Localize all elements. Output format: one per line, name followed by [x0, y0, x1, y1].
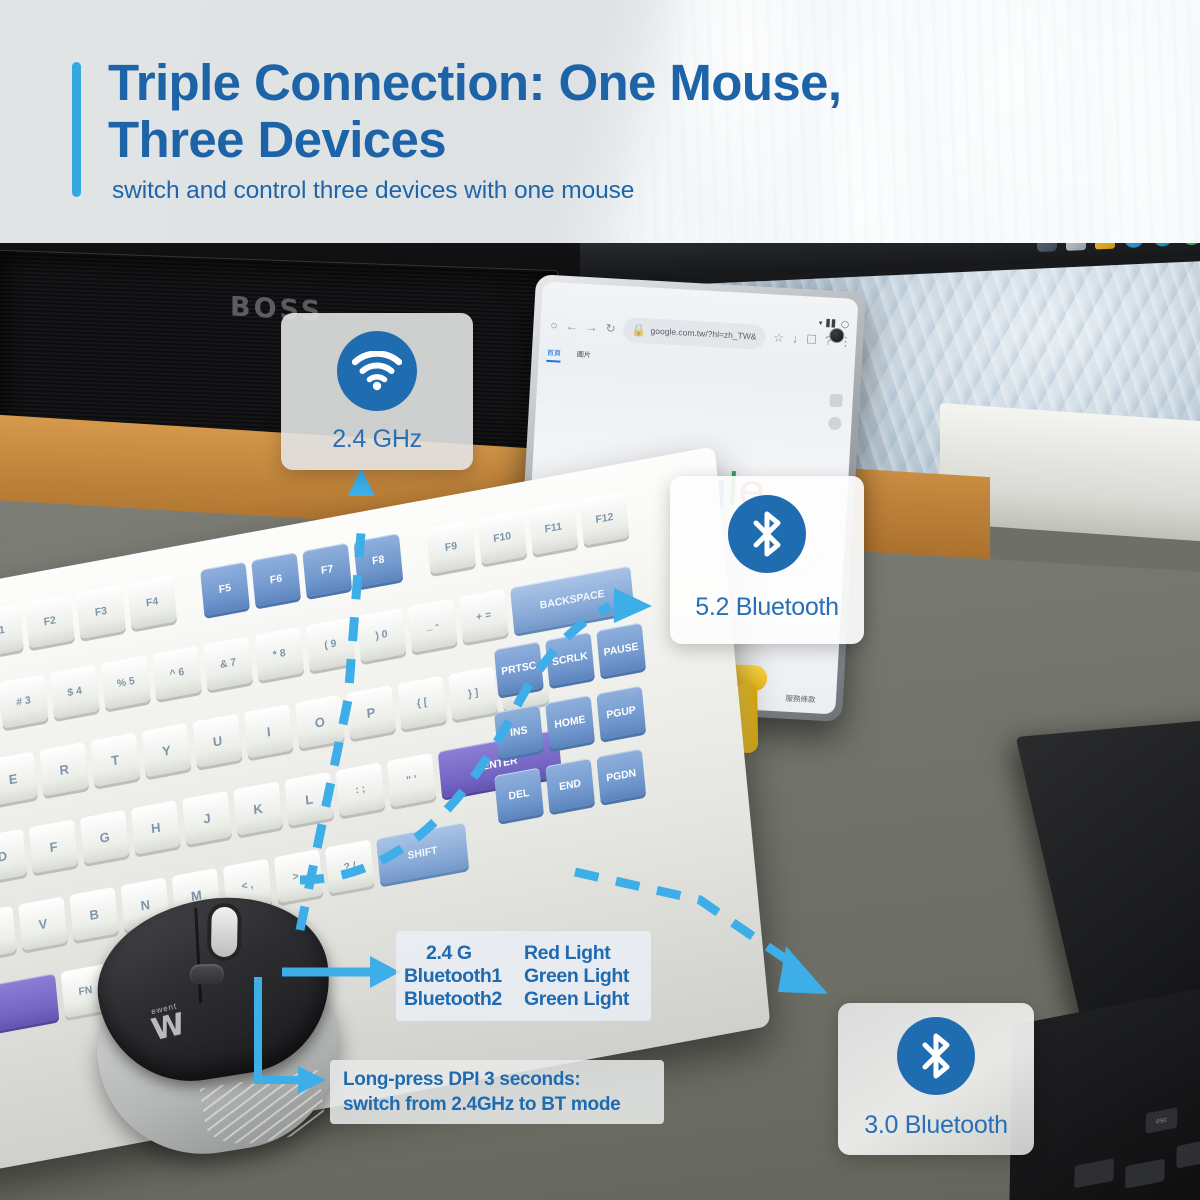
callout-card-24ghz[interactable]: 2.4 GHz [281, 313, 473, 470]
key-7[interactable]: & 7 [203, 636, 253, 690]
address-bar[interactable]: 🔒 google.com.tw/?hl=zh_TW& [623, 317, 766, 350]
callout-label-24ghz: 2.4 GHz [332, 425, 422, 454]
apps-grid-icon[interactable] [829, 394, 843, 408]
key-h[interactable]: H [131, 800, 181, 854]
key-f12[interactable]: F12 [580, 491, 630, 545]
taskbar-icon-window[interactable] [1066, 243, 1086, 251]
mouse-brand-mark: W [149, 1010, 188, 1047]
header-banner: Triple Connection: One Mouse, Three Devi… [0, 0, 1200, 243]
key-p[interactable]: P [346, 685, 396, 739]
address-bar-url: google.com.tw/?hl=zh_TW& [650, 326, 756, 342]
key-8[interactable]: * 8 [254, 627, 304, 681]
bluetooth-icon [728, 495, 806, 573]
key-f[interactable]: F [29, 819, 79, 873]
key-c[interactable]: C [0, 906, 17, 960]
table-row-light-1: Green Light [524, 965, 645, 988]
key-u[interactable]: U [193, 714, 243, 768]
footer-link-4[interactable]: 服務條款 [785, 693, 816, 706]
key-backspace[interactable]: BACKSPACE [510, 566, 634, 634]
browser-tab-strip[interactable]: 首頁 圖片 [546, 348, 591, 364]
table-row-mode-2: Bluetooth2 [404, 988, 524, 1011]
reload-icon[interactable]: ↻ [605, 322, 616, 336]
key-f9[interactable]: F9 [426, 520, 476, 574]
key-l[interactable]: L [284, 772, 334, 826]
table-row-mode-1: Bluetooth1 [404, 965, 524, 988]
key-bracket-left[interactable]: { [ [397, 676, 447, 730]
key-v[interactable]: V [18, 896, 68, 950]
page-subtitle: switch and control three devices with on… [112, 177, 634, 205]
page-side-tools[interactable] [828, 394, 843, 431]
home-icon[interactable]: ○ [550, 319, 558, 332]
key-k[interactable]: K [233, 781, 283, 835]
bookmark-star-icon[interactable]: ☆ [773, 331, 784, 345]
table-row-light-0: Red Light [524, 942, 645, 965]
key-equal[interactable]: + = [459, 589, 509, 643]
battery-status-icon: ◯ [841, 320, 849, 328]
laptop-key-generic-1[interactable] [1074, 1158, 1114, 1188]
key-ins[interactable]: INS [494, 704, 544, 758]
key-minus[interactable]: _ - [408, 598, 458, 652]
mouse-dpi-button[interactable] [190, 964, 224, 985]
key-pgdn[interactable]: PGDN [596, 749, 646, 803]
key-home[interactable]: HOME [545, 695, 595, 749]
wireless-mouse[interactable]: ewent W [72, 878, 379, 1172]
key-t[interactable]: T [90, 733, 140, 787]
taskbar-icon-edge[interactable] [1153, 243, 1173, 247]
key-y[interactable]: Y [142, 723, 192, 777]
key-quote[interactable]: " ' [387, 753, 437, 807]
key-bracket-right[interactable]: } ] [448, 666, 498, 720]
dpi-note-line2: switch from 2.4GHz to BT mode [343, 1092, 664, 1117]
page-title-line2: Three Devices [108, 111, 1008, 168]
tabs-icon[interactable]: ☐ [806, 333, 817, 347]
account-avatar-icon[interactable] [828, 417, 842, 431]
mode-indicator-table: 2.4 G Red Light Bluetooth1 Green Light B… [396, 931, 651, 1021]
tab-home[interactable]: 首頁 [546, 348, 561, 363]
dpi-note-line1: Long-press DPI 3 seconds: [343, 1067, 664, 1092]
mouse-scroll-wheel[interactable] [211, 907, 238, 957]
key-prtsc[interactable]: PRTSC [494, 641, 544, 695]
key-f1[interactable]: F1 [0, 604, 24, 658]
key-o[interactable]: O [295, 695, 345, 749]
key-4[interactable]: $ 4 [50, 665, 100, 719]
key-del[interactable]: DEL [494, 768, 544, 822]
tab-images[interactable]: 圖片 [576, 350, 591, 365]
key-9[interactable]: ( 9 [306, 617, 356, 671]
wifi-status-icon: ▾ [819, 319, 823, 327]
laptop-key-generic-2[interactable] [1125, 1159, 1165, 1189]
back-icon[interactable]: ← [565, 319, 578, 333]
taskbar-icon-telegram[interactable] [1124, 243, 1144, 248]
lock-icon: 🔒 [632, 323, 646, 337]
key-g[interactable]: G [80, 810, 130, 864]
key-semicolon[interactable]: : ; [335, 762, 385, 816]
key-f7[interactable]: F7 [302, 543, 352, 597]
key-f3[interactable]: F3 [76, 585, 126, 639]
key-0[interactable]: ) 0 [357, 608, 407, 662]
accent-bar [72, 62, 81, 197]
download-icon[interactable]: ↓ [792, 332, 799, 345]
forward-icon[interactable]: → [585, 320, 598, 334]
infographic-stage: Triple Connection: One Mouse, Three Devi… [0, 0, 1200, 1200]
key-f2[interactable]: F2 [25, 594, 75, 648]
wifi-icon [337, 331, 417, 411]
laptop-key-esc[interactable]: esc [1146, 1107, 1178, 1134]
table-row-mode-0: 2.4 G [404, 942, 524, 965]
bluetooth-icon [897, 1017, 975, 1095]
taskbar-icon-green-app[interactable] [1182, 243, 1200, 246]
key-shift[interactable]: SHIFT [376, 822, 469, 884]
key-f4[interactable]: F4 [127, 575, 177, 629]
key-i[interactable]: I [244, 704, 294, 758]
key-f10[interactable]: F10 [477, 510, 527, 564]
key-e[interactable]: E [0, 751, 38, 805]
page-title-line1: Triple Connection: One Mouse, [108, 54, 1008, 111]
key-pgup[interactable]: PGUP [596, 686, 646, 740]
key-spacebar[interactable] [0, 973, 59, 1046]
key-5[interactable]: % 5 [101, 655, 151, 709]
key-j[interactable]: J [182, 791, 232, 845]
key-f11[interactable]: F11 [528, 501, 578, 555]
table-row-light-2: Green Light [524, 988, 645, 1011]
key-pause[interactable]: PAUSE [596, 622, 646, 676]
callout-label-bt30: 3.0 Bluetooth [864, 1111, 1007, 1140]
taskbar-icon-cloud[interactable] [1037, 243, 1057, 252]
callout-label-bt52: 5.2 Bluetooth [695, 593, 838, 622]
key-r[interactable]: R [39, 742, 89, 796]
page-title: Triple Connection: One Mouse, Three Devi… [108, 54, 1008, 168]
dpi-instruction-note: Long-press DPI 3 seconds: switch from 2.… [330, 1060, 664, 1124]
callout-card-bt30[interactable]: 3.0 Bluetooth [838, 1003, 1034, 1155]
callout-card-bt52[interactable]: 5.2 Bluetooth [670, 476, 864, 644]
key-f6[interactable]: F6 [251, 552, 301, 606]
signal-status-icon: ▋▋ [826, 319, 837, 328]
key-6[interactable]: ^ 6 [152, 646, 202, 700]
key-d[interactable]: D [0, 829, 27, 883]
taskbar-icon-folder[interactable] [1095, 243, 1115, 250]
key-end[interactable]: END [545, 758, 595, 812]
key-f8[interactable]: F8 [353, 533, 403, 587]
key-f5[interactable]: F5 [200, 562, 250, 616]
key-scrlk[interactable]: SCRLK [545, 632, 595, 686]
laptop-key-generic-3[interactable] [1176, 1139, 1200, 1168]
key-3[interactable]: # 3 [0, 674, 48, 728]
